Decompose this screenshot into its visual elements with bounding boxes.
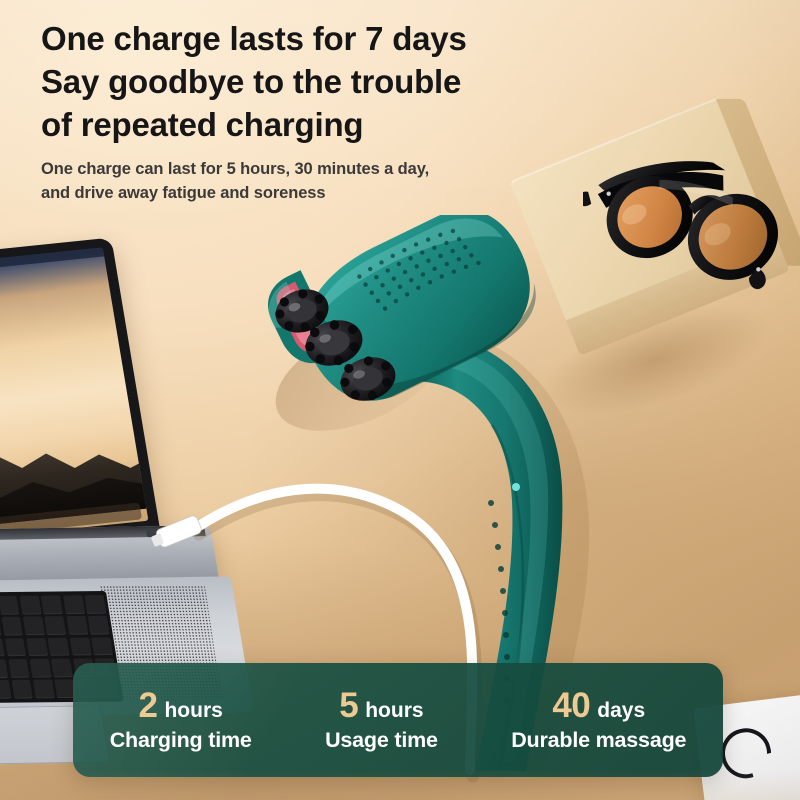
stat-value-row: 40 days	[511, 688, 686, 723]
stat-label: Durable massage	[511, 729, 686, 753]
stat-number: 2	[139, 688, 158, 723]
page-subtitle: One charge can last for 5 hours, 30 minu…	[41, 158, 601, 206]
stat-unit: hours	[365, 700, 423, 721]
laptop-lid	[0, 238, 161, 561]
usb-c-port	[146, 528, 170, 537]
stat-value-row: 5 hours	[325, 688, 438, 723]
stat-durable-massage: 40 days Durable massage	[507, 688, 690, 753]
stat-unit: days	[597, 700, 645, 721]
stat-number: 5	[339, 688, 358, 723]
laptop-hinge	[0, 525, 206, 541]
stat-usage-time: 5 hours Usage time	[321, 688, 442, 753]
page-title: One charge lasts for 7 days Say goodbye …	[41, 18, 601, 147]
stat-number: 40	[552, 688, 590, 723]
stat-label: Charging time	[110, 729, 252, 753]
macos-menubar	[0, 247, 104, 282]
bottom-surface-strip	[0, 770, 800, 800]
copy-block: One charge lasts for 7 days Say goodbye …	[41, 18, 601, 206]
macbook-laptop	[0, 219, 249, 737]
stat-unit: hours	[164, 700, 222, 721]
stats-panel: 2 hours Charging time 5 hours Usage time…	[73, 663, 723, 777]
promo-image: One charge lasts for 7 days Say goodbye …	[0, 0, 800, 800]
laptop-screen	[0, 247, 148, 546]
indicator-light	[512, 483, 520, 491]
stat-value-row: 2 hours	[110, 688, 252, 723]
stat-charging-time: 2 hours Charging time	[106, 688, 256, 753]
stat-label: Usage time	[325, 729, 438, 753]
